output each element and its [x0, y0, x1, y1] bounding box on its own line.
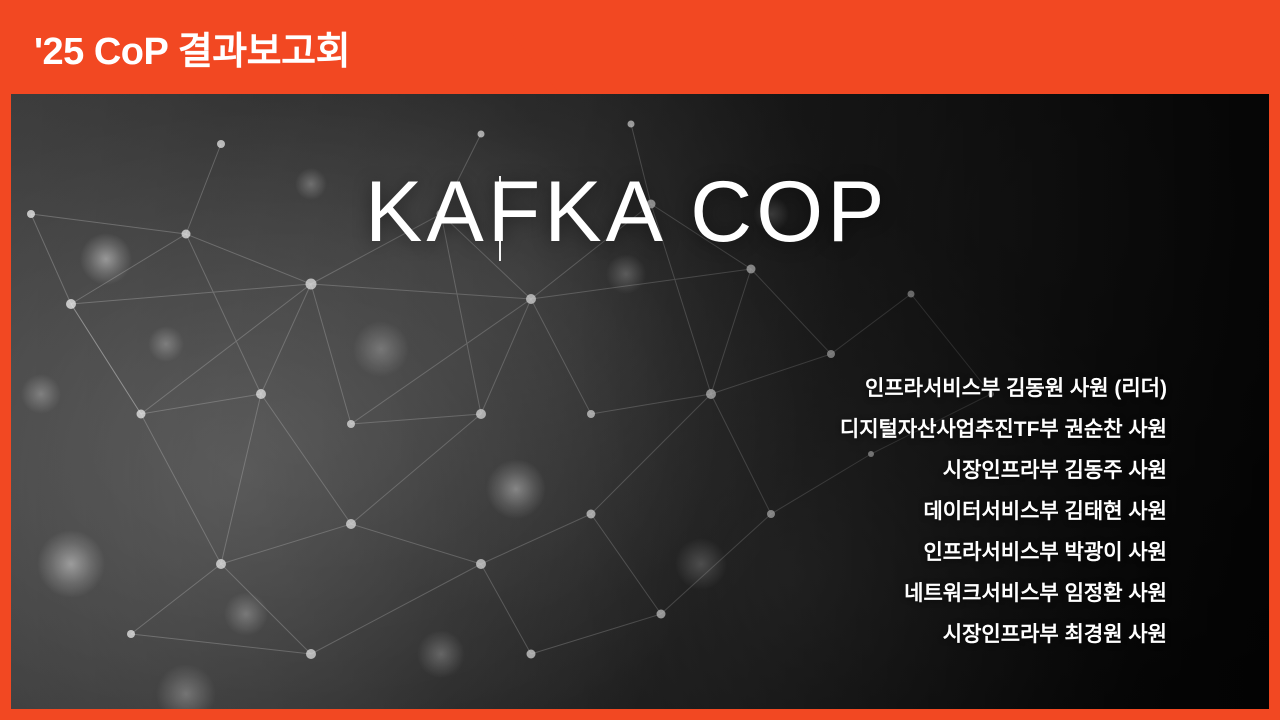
list-item: 시장인프라부 김동주 사원	[840, 450, 1167, 491]
header-tab-label: '25 CoP 결과보고회	[34, 20, 350, 75]
list-item: 인프라서비스부 박광이 사원	[840, 532, 1167, 573]
text-caret	[499, 176, 501, 261]
list-item: 시장인프라부 최경원 사원	[840, 614, 1167, 655]
list-item: 데이터서비스부 김태현 사원	[840, 491, 1167, 532]
header-tab: '25 CoP 결과보고회	[0, 0, 560, 94]
member-list: 인프라서비스부 김동원 사원 (리더) 디지털자산사업추진TF부 권순찬 사원 …	[840, 368, 1167, 655]
list-item: 디지털자산사업추진TF부 권순찬 사원	[840, 409, 1167, 450]
list-item: 인프라서비스부 김동원 사원 (리더)	[840, 368, 1167, 409]
page-title: KAFKA COP	[365, 163, 889, 262]
presentation-slide: '25 CoP 결과보고회 KAFKA COP 인프라서비스부 김동원 사원 (…	[0, 0, 1280, 720]
list-item: 네트워크서비스부 임정환 사원	[840, 573, 1167, 614]
